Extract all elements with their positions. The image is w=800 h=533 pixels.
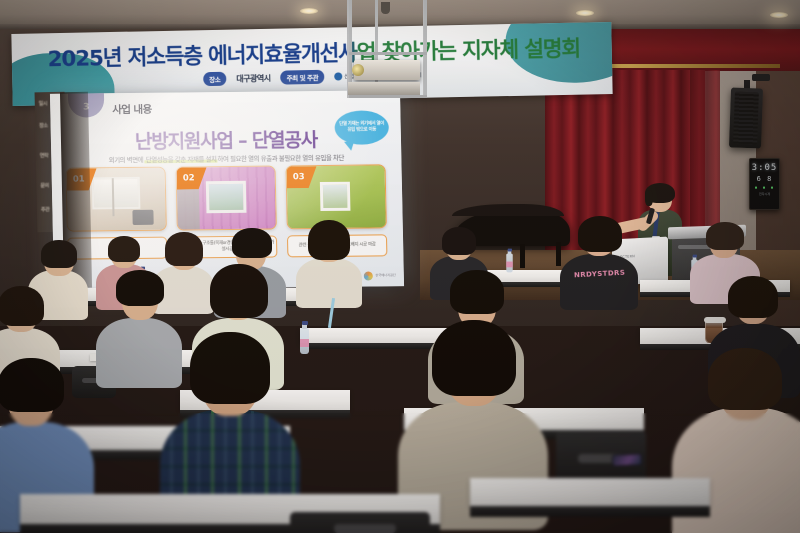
lead-part-1: 외기의 벽면에: [109, 156, 145, 164]
clock-time-row: 3:05: [753, 163, 776, 173]
clock-caption: 전자시계: [753, 192, 776, 196]
panel-03-image: 03: [285, 164, 386, 229]
person-hair: [450, 270, 504, 314]
chair-handle-slot: [334, 524, 396, 533]
smartphone[interactable]: [612, 453, 643, 467]
speaker-grille: [733, 92, 759, 145]
person-hair: [41, 240, 77, 268]
person-hair: [232, 228, 272, 258]
banner-location-pill: 장소: [203, 72, 226, 86]
clock-led-row: ▪ ▪ ▪: [753, 185, 776, 191]
audience-person: [296, 228, 362, 300]
cage-bar: [349, 52, 427, 55]
person-hair: [708, 348, 782, 410]
audience-rows: NRDYSTDRS: [0, 250, 800, 533]
water-bottle: [300, 328, 309, 354]
person-torso: [296, 258, 362, 308]
person-hair: [706, 222, 744, 250]
auditorium-photo-scene: 2025년 저소득층 에너지효율개선사업 찾아가는 지자체 설명회 장소 대구광…: [0, 0, 800, 533]
ministry-logo-icon: [334, 72, 342, 80]
projector-mount-plate: [348, 82, 420, 95]
person-hair: [210, 264, 268, 318]
banner-host-pill: 주최 및 주관: [280, 70, 324, 85]
person-hair: [116, 270, 164, 306]
water-bottle: [506, 254, 512, 273]
projector-lens-icon: [352, 64, 364, 76]
person-hair: [108, 236, 140, 262]
person-hair: [165, 232, 203, 266]
downlight-icon: [576, 10, 594, 16]
chair: [290, 512, 430, 533]
downlight-icon: [770, 12, 788, 18]
audience-person-hoodie: NRDYSTDRS: [560, 224, 638, 306]
clock-time: 3:05: [752, 163, 778, 173]
window-shape: [206, 180, 246, 213]
panel-02-image: 02: [175, 165, 276, 230]
slide-section-label: 사업 내용: [112, 102, 152, 117]
box-shape: [132, 210, 154, 225]
presenter-hair-side: [645, 190, 653, 206]
lead-part-2: 하여 필요한 열의 유출과 불필요한 열의 유입을 차단: [217, 154, 344, 163]
speaker-bracket: [752, 74, 770, 81]
downlight-icon: [300, 8, 318, 14]
clock-secondary: 6 8: [753, 175, 776, 183]
digital-clock-panel: 3:05 6 8 ▪ ▪ ▪ 전자시계: [749, 158, 780, 210]
cage-bar: [349, 95, 427, 98]
window-shape: [320, 182, 350, 211]
person-hair: [728, 276, 778, 318]
person-hair: [578, 216, 622, 252]
banner-location-value: 대구광역시: [236, 72, 271, 84]
person-hair: [442, 227, 476, 255]
lead-highlight: 단열성능을 갖춘 자재를 설치: [145, 155, 218, 164]
person-torso: [560, 254, 638, 310]
cage-bar: [424, 0, 427, 98]
desk-edge: [470, 506, 710, 517]
window-shape: [92, 177, 140, 210]
person-hair: [432, 320, 516, 396]
person-hair: [308, 220, 350, 260]
person-hair: [0, 286, 44, 326]
desk-front-right: [470, 478, 710, 506]
person-hair: [0, 358, 64, 412]
person-hair: [190, 332, 270, 404]
pa-speaker: [729, 87, 763, 148]
